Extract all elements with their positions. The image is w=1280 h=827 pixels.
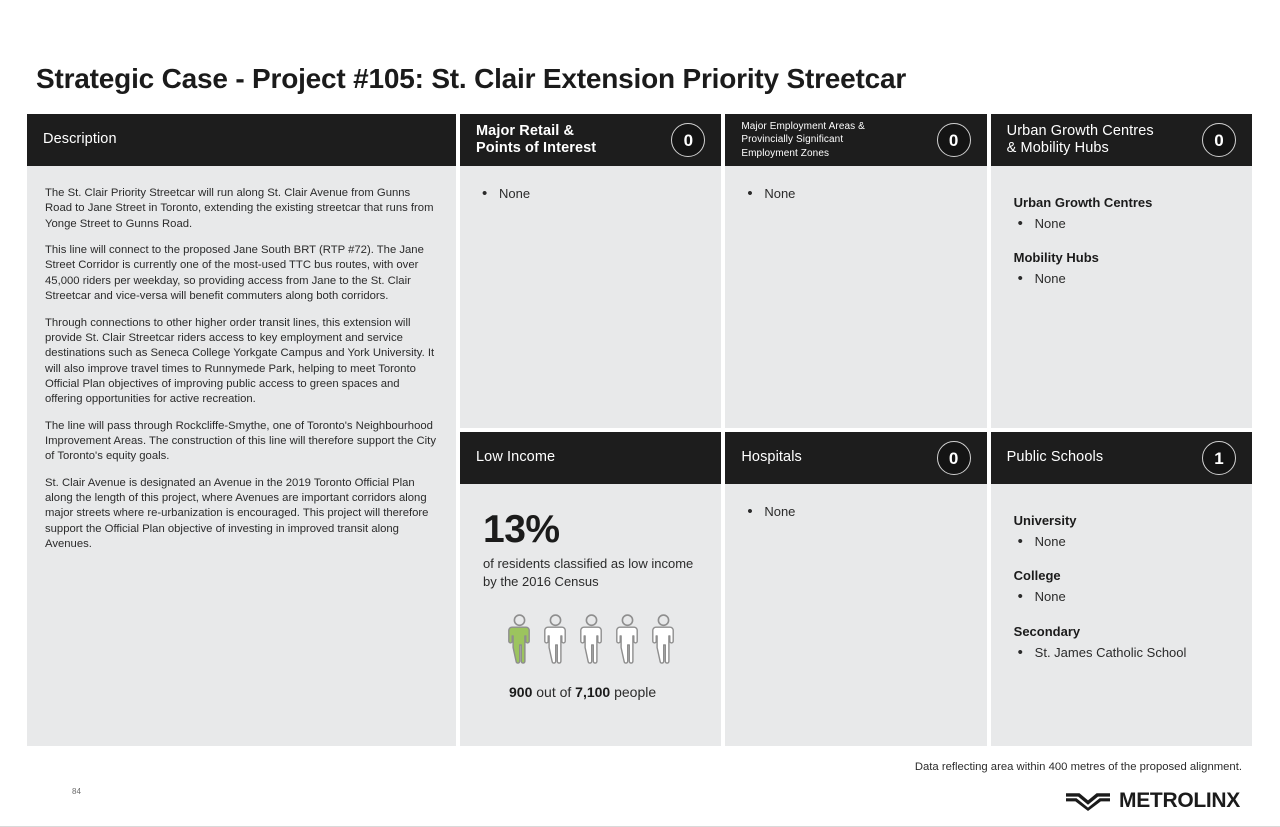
low-income-count-mid: out of [536,684,571,700]
major-retail-header-line2: Points of Interest [476,140,596,157]
college-list: None [1014,587,1234,607]
public-schools-header: Public Schools 1 [991,432,1252,484]
hospitals-body: None [725,484,986,746]
urban-growth-body: Urban Growth Centres None Mobility Hubs … [991,166,1252,428]
public-schools-body: University None College None [991,484,1252,746]
hospitals-header: Hospitals 0 [725,432,986,484]
urban-growth-header-label: Urban Growth Centres & Mobility Hubs [1007,123,1162,157]
urban-growth-groups: Urban Growth Centres None Mobility Hubs … [1009,184,1234,289]
description-column: Description The St. Clair Priority Stree… [27,114,456,746]
person-icon [543,614,568,664]
college-group: College None [1014,567,1234,606]
person-icon [579,614,604,664]
university-list: None [1014,532,1234,552]
urban-growth-header: Urban Growth Centres & Mobility Hubs 0 [991,114,1252,166]
page-number: 84 [72,787,81,796]
metrolinx-logo-text: METROLINX [1119,790,1240,811]
major-retail-count-badge: 0 [671,123,705,157]
description-paragraph-3: Through connections to other higher orde… [45,316,438,408]
low-income-count-value: 900 [509,684,532,700]
employment-areas-header-label: Major Employment Areas & Provincially Si… [741,120,873,160]
major-retail-header-label: Major Retail & Points of Interest [476,123,604,157]
footer-note: Data reflecting area within 400 metres o… [915,761,1242,773]
mobility-hubs-list: None [1014,269,1234,289]
secondary-label: Secondary [1014,623,1234,642]
university-label: University [1014,512,1234,531]
secondary-list: St. James Catholic School [1014,643,1234,663]
low-income-pictogram [483,614,703,664]
low-income-body: 13% of residents classified as low incom… [460,484,721,746]
employment-areas-body: None [725,166,986,428]
panel-low-income: Low Income 13% of residents classified a… [460,432,721,746]
secondary-group: Secondary St. James Catholic School [1014,623,1234,662]
urban-growth-header-line1: Urban Growth Centres [1007,123,1154,140]
panel-public-schools: Public Schools 1 University None [991,432,1252,746]
person-icon [651,614,676,664]
mobility-hubs-label: Mobility Hubs [1014,249,1234,268]
low-income-count-suffix: people [614,684,656,700]
hospitals-header-label: Hospitals [741,449,810,466]
major-retail-list: None [478,184,703,204]
metrolinx-logo-icon [1065,789,1111,811]
mobility-hubs-group: Mobility Hubs None [1014,249,1234,288]
description-paragraph-2: This line will connect to the proposed J… [45,243,438,304]
panel-description: Description The St. Clair Priority Stree… [27,114,456,746]
urban-growth-count-badge: 0 [1202,123,1236,157]
panel-employment-areas: Major Employment Areas & Provincially Si… [725,114,986,428]
list-item: None [743,502,968,522]
urban-growth-centres-list: None [1014,214,1234,234]
description-header-label: Description [43,131,125,148]
slide-root: Strategic Case - Project #105: St. Clair… [0,0,1280,827]
employment-areas-count-badge: 0 [937,123,971,157]
hospitals-list: None [743,502,968,522]
list-item: None [743,184,968,204]
public-schools-count-badge: 1 [1202,441,1236,475]
panel-urban-growth: Urban Growth Centres & Mobility Hubs 0 U… [991,114,1252,428]
urban-growth-header-line2: & Mobility Hubs [1007,140,1154,157]
major-retail-header: Major Retail & Points of Interest 0 [460,114,721,166]
low-income-stat: 13% of residents classified as low incom… [478,502,703,700]
person-icon [507,614,532,664]
low-income-count-total: 7,100 [575,684,610,700]
person-icon [615,614,640,664]
description-paragraph-1: The St. Clair Priority Streetcar will ru… [45,186,438,232]
content-board: Description The St. Clair Priority Stree… [27,114,1252,746]
public-schools-header-label: Public Schools [1007,449,1112,466]
university-group: University None [1014,512,1234,551]
public-schools-groups: University None College None [1009,502,1234,662]
low-income-header-label: Low Income [476,449,563,466]
metrolinx-logo: METROLINX [1065,789,1240,811]
list-item: None [1014,269,1234,289]
description-paragraph-4: The line will pass through Rockcliffe-Sm… [45,419,438,465]
urban-growth-centres-group: Urban Growth Centres None [1014,194,1234,233]
metrics-row-top: Major Retail & Points of Interest 0 None [460,114,1252,428]
panel-hospitals: Hospitals 0 None [725,432,986,746]
panel-major-retail: Major Retail & Points of Interest 0 None [460,114,721,428]
page-title: Strategic Case - Project #105: St. Clair… [36,63,906,95]
college-label: College [1014,567,1234,586]
list-item: None [1014,587,1234,607]
list-item: None [1014,214,1234,234]
list-item: None [1014,532,1234,552]
metrics-row-bottom: Low Income 13% of residents classified a… [460,432,1252,746]
list-item: St. James Catholic School [1014,643,1234,663]
description-header: Description [27,114,456,166]
employment-header-line1: Major Employment Areas & [741,120,865,133]
low-income-count-line: 900 out of 7,100 people [483,684,703,700]
list-item: None [478,184,703,204]
employment-header-line2: Provincially Significant [741,133,865,146]
employment-header-line3: Employment Zones [741,147,865,160]
employment-areas-header: Major Employment Areas & Provincially Si… [725,114,986,166]
major-retail-body: None [460,166,721,428]
description-body: The St. Clair Priority Streetcar will ru… [27,166,456,746]
hospitals-count-badge: 0 [937,441,971,475]
metrics-grid: Major Retail & Points of Interest 0 None [460,114,1252,746]
urban-growth-centres-label: Urban Growth Centres [1014,194,1234,213]
employment-areas-list: None [743,184,968,204]
low-income-header: Low Income [460,432,721,484]
description-paragraph-5: St. Clair Avenue is designated an Avenue… [45,476,438,553]
low-income-percent: 13% [483,510,703,551]
low-income-description: of residents classified as low income by… [483,555,703,592]
major-retail-header-line1: Major Retail & [476,123,596,140]
